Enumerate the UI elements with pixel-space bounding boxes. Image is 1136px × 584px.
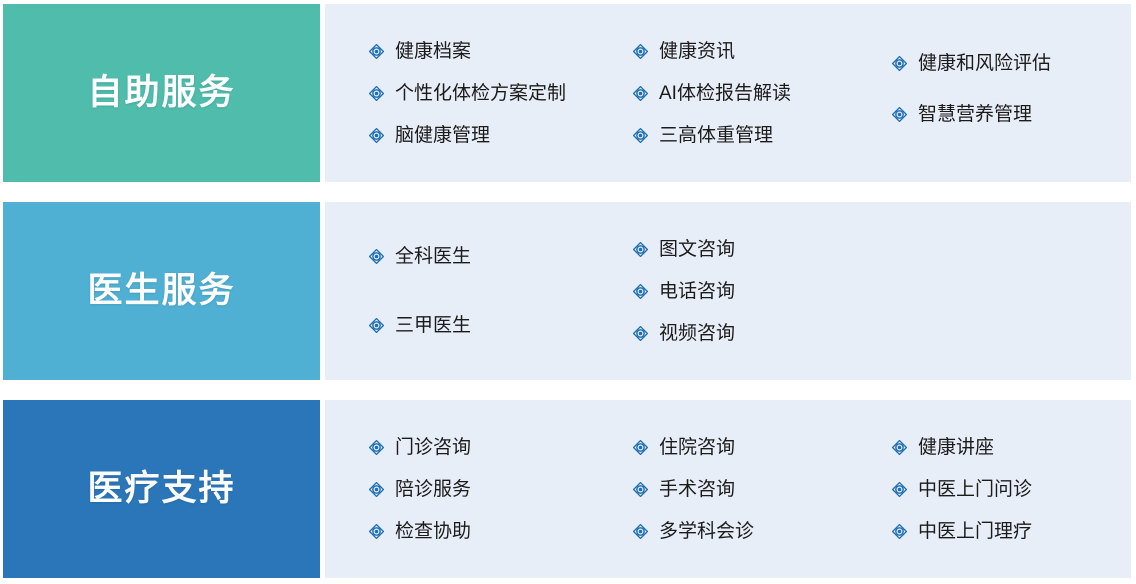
list-item[interactable]: 三甲医生: [369, 291, 633, 360]
diamond-target-icon: [369, 318, 384, 333]
list-item-label: 多学科会诊: [659, 522, 754, 541]
diamond-target-icon: [369, 44, 384, 59]
list-item-label: 检查协助: [395, 522, 471, 541]
list-item-label: 三高体重管理: [659, 126, 773, 145]
list-item[interactable]: 脑健康管理: [369, 114, 633, 156]
diamond-target-icon: [369, 249, 384, 264]
list-item[interactable]: 个性化体检方案定制: [369, 72, 633, 114]
service-row-medical-support: 医疗支持 门诊咨询 陪诊服: [3, 400, 1131, 578]
diamond-target-icon: [633, 440, 648, 455]
row-header-self-service[interactable]: 自助服务: [3, 4, 320, 182]
list-item[interactable]: 健康和风险评估: [892, 42, 1132, 84]
list-item[interactable]: 住院咨询: [633, 426, 892, 468]
diamond-target-icon: [369, 128, 384, 143]
list-item[interactable]: 中医上门理疗: [892, 510, 1132, 552]
list-item[interactable]: 健康档案: [369, 30, 633, 72]
service-row-self-service: 自助服务 健康档案 个性化: [3, 4, 1131, 182]
row-header-doctor-service[interactable]: 医生服务: [3, 202, 320, 380]
diamond-target-icon: [892, 56, 907, 71]
diamond-target-icon: [892, 524, 907, 539]
list-item-label: 手术咨询: [659, 480, 735, 499]
list-item-label: 个性化体检方案定制: [395, 84, 566, 103]
diamond-target-icon: [892, 482, 907, 497]
list-item[interactable]: 中医上门问诊: [892, 468, 1132, 510]
diamond-target-icon: [633, 44, 648, 59]
list-item[interactable]: 三高体重管理: [633, 114, 892, 156]
list-item-label: 中医上门问诊: [918, 480, 1032, 499]
list-item[interactable]: 智慧营养管理: [892, 84, 1132, 144]
item-column: 健康资讯 AI体检报告解读 三高体重管理: [633, 30, 892, 156]
list-item[interactable]: AI体检报告解读: [633, 72, 892, 114]
row-body-self-service: 健康档案 个性化体检方案定制 脑健康管理: [325, 4, 1131, 182]
diamond-target-icon: [633, 284, 648, 299]
list-item[interactable]: 图文咨询: [633, 228, 892, 270]
list-item-label: 健康资讯: [659, 42, 735, 61]
item-column: 门诊咨询 陪诊服务 检查协助: [369, 426, 633, 552]
list-item[interactable]: 电话咨询: [633, 270, 892, 312]
list-item-label: 脑健康管理: [395, 126, 490, 145]
list-item-label: 中医上门理疗: [918, 522, 1032, 541]
item-column: 健康讲座 中医上门问诊 中医上门理疗: [892, 426, 1132, 552]
list-item[interactable]: 门诊咨询: [369, 426, 633, 468]
item-column: 健康和风险评估 智慧营养管理: [892, 42, 1132, 144]
list-item-label: 住院咨询: [659, 438, 735, 457]
diamond-target-icon: [633, 128, 648, 143]
list-item-label: 健康和风险评估: [918, 54, 1051, 73]
list-item-label: 智慧营养管理: [918, 105, 1032, 124]
item-column: 图文咨询 电话咨询 视频咨询: [633, 228, 892, 354]
row-body-doctor-service: 全科医生 三甲医生: [325, 202, 1131, 380]
diamond-target-icon: [633, 524, 648, 539]
diamond-target-icon: [369, 482, 384, 497]
list-item-label: 电话咨询: [659, 282, 735, 301]
list-item[interactable]: 视频咨询: [633, 312, 892, 354]
row-body-medical-support: 门诊咨询 陪诊服务 检查协助: [325, 400, 1131, 578]
diamond-target-icon: [633, 242, 648, 257]
list-item[interactable]: 多学科会诊: [633, 510, 892, 552]
list-item-label: AI体检报告解读: [659, 84, 791, 103]
list-item[interactable]: 全科医生: [369, 222, 633, 291]
list-item-label: 全科医生: [395, 247, 471, 266]
diamond-target-icon: [369, 440, 384, 455]
list-item[interactable]: 陪诊服务: [369, 468, 633, 510]
row-title: 自助服务: [87, 74, 235, 113]
diamond-target-icon: [369, 86, 384, 101]
list-item-label: 门诊咨询: [395, 438, 471, 457]
list-item-label: 图文咨询: [659, 240, 735, 259]
diamond-target-icon: [633, 86, 648, 101]
diamond-target-icon: [892, 107, 907, 122]
list-item[interactable]: 检查协助: [369, 510, 633, 552]
row-title: 医生服务: [87, 272, 235, 311]
list-item-label: 陪诊服务: [395, 480, 471, 499]
list-item-label: 视频咨询: [659, 324, 735, 343]
item-column: 全科医生 三甲医生: [369, 222, 633, 360]
diamond-target-icon: [633, 482, 648, 497]
list-item[interactable]: 健康讲座: [892, 426, 1132, 468]
list-item-label: 三甲医生: [395, 316, 471, 335]
diamond-target-icon: [892, 440, 907, 455]
list-item-label: 健康讲座: [918, 438, 994, 457]
list-item[interactable]: 手术咨询: [633, 468, 892, 510]
row-title: 医疗支持: [87, 470, 235, 509]
diamond-target-icon: [369, 524, 384, 539]
item-column: 住院咨询 手术咨询 多学科会诊: [633, 426, 892, 552]
diamond-target-icon: [633, 326, 648, 341]
item-column: 健康档案 个性化体检方案定制 脑健康管理: [369, 30, 633, 156]
list-item[interactable]: 健康资讯: [633, 30, 892, 72]
list-item-label: 健康档案: [395, 42, 471, 61]
service-row-doctor-service: 医生服务 全科医生 三甲医: [3, 202, 1131, 380]
row-header-medical-support[interactable]: 医疗支持: [3, 400, 320, 578]
service-overview-board: 自助服务 健康档案 个性化: [0, 0, 1136, 584]
